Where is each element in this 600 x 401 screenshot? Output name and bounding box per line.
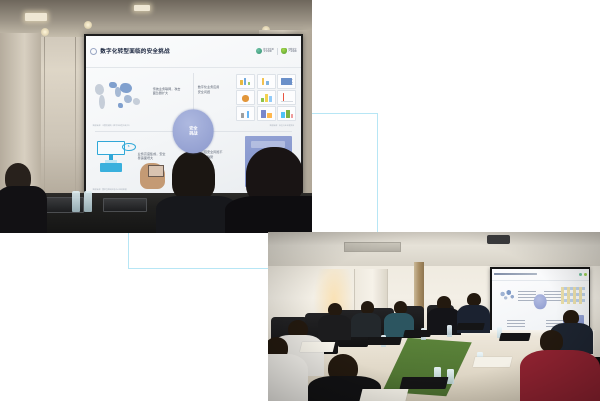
app-icon (236, 74, 255, 89)
logo-text-1: 数字化转型 安全联盟 (263, 49, 273, 54)
notebook (399, 377, 448, 389)
slide-title (494, 273, 537, 275)
app-icon (257, 106, 276, 121)
notebook (499, 333, 531, 341)
logo-divider (277, 48, 278, 55)
slide-quadrant-1 (492, 281, 541, 310)
document-paper (300, 342, 336, 352)
world-map-graphic (496, 288, 518, 303)
notebook (403, 330, 431, 337)
document-paper (473, 357, 512, 367)
center-badge (534, 294, 547, 309)
app-icon (277, 90, 296, 105)
quadrant-2-text: 数字化业务应用 安全问题 (198, 85, 220, 94)
attendee-body (427, 308, 460, 335)
attendee-body (225, 196, 312, 233)
logo-line-2: 产业联盟 (288, 51, 296, 53)
ceiling-projector (487, 235, 510, 243)
notebook (456, 323, 484, 330)
wall-seam (44, 37, 45, 200)
logo-text-2: 网络安全 产业联盟 (288, 49, 296, 54)
application-icon-grid (236, 74, 296, 121)
server-icon (100, 163, 121, 172)
attendee-body (318, 315, 351, 340)
notebook (367, 337, 402, 345)
water-bottle (84, 191, 92, 212)
document-paper (359, 389, 408, 401)
app-icon (236, 106, 255, 121)
attendee-body (351, 313, 381, 337)
ceiling-spotlight (41, 28, 49, 36)
laptop (103, 198, 147, 212)
slide-header (492, 269, 589, 282)
water-bottle (447, 325, 452, 337)
ceiling (268, 232, 600, 266)
quadrant-3-text (507, 320, 524, 330)
app-icon (277, 106, 296, 121)
ceiling-light-panel (25, 13, 47, 21)
attendee-body (268, 354, 308, 401)
attendee-head (540, 330, 563, 352)
app-icon (236, 90, 255, 105)
attendee-head (172, 151, 216, 200)
screenshot-canvas: 数字化转型面临的安全挑战 数字化转型 安全联盟 (0, 0, 600, 401)
smartphone (148, 165, 164, 177)
wall-seam (75, 37, 76, 200)
logo-mark-teal (579, 273, 582, 276)
attendee-head (394, 301, 407, 314)
quadrant-3-caption: 数据来源：国家互联网应急中心监测数据 (93, 188, 127, 191)
photo-presentation: 数字化转型面临的安全挑战 数字化转型 安全联盟 (0, 0, 312, 233)
slide-logo-group: 数字化转型 安全联盟 网络安全 产业联盟 (256, 48, 297, 55)
slide-title: 数字化转型面临的安全挑战 (100, 47, 170, 55)
monitor-icon (97, 141, 125, 155)
slide-quadrant-2 (540, 281, 589, 310)
quadrant-1-text: 传统业务联网，攻击 面急剧扩大 (153, 87, 181, 96)
slide-header: 数字化转型面临的安全挑战 数字化转型 安全联盟 (86, 36, 300, 68)
application-icon-grid (561, 287, 585, 304)
attendee-body (0, 186, 47, 233)
center-badge: 安全 挑战 (173, 110, 214, 153)
currency-icon: $ (122, 143, 136, 151)
world-map-graphic (93, 77, 149, 119)
quadrant-3-text: 业务高度集成，安全 暴露面增大 (138, 152, 166, 161)
logo-chip-2: 网络安全 产业联盟 (281, 48, 297, 54)
ceiling-air-vent (344, 242, 400, 252)
photo-meeting (268, 232, 600, 401)
app-icon (257, 90, 276, 105)
center-badge-line-2: 挑战 (189, 131, 197, 136)
app-icon (257, 74, 276, 89)
circle-bullet-icon (90, 48, 97, 55)
ceiling-light-panel-2 (134, 5, 150, 11)
logo-mark-green (281, 48, 287, 54)
logo-mark-green (584, 273, 587, 276)
logo-line-2: 安全联盟 (263, 51, 271, 53)
slide-logo-group (579, 273, 587, 276)
logo-mark-teal (256, 48, 262, 54)
water-bottle (72, 191, 80, 212)
app-icon (277, 74, 296, 89)
quadrant-2-caption: 数据来源：安全行业年度报告 (270, 124, 295, 127)
attendee-head (361, 301, 374, 314)
logo-chip-1: 数字化转型 安全联盟 (256, 48, 274, 54)
quadrant-1-caption: 数据来源：中国信通院《数字化转型白皮书》 (93, 124, 131, 127)
attendee-body (520, 350, 600, 401)
attendee-head (246, 147, 302, 203)
